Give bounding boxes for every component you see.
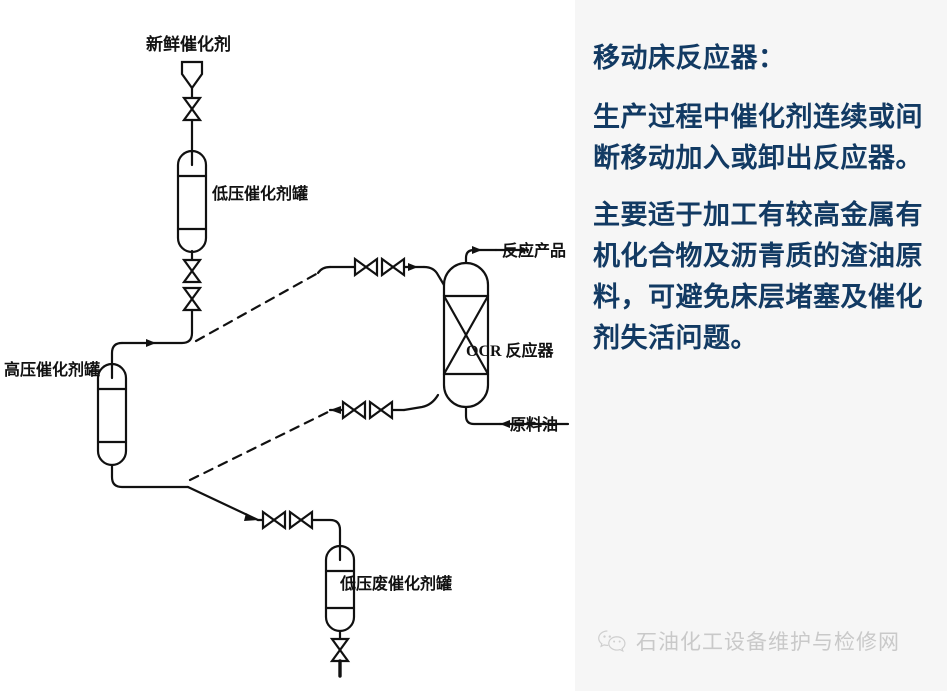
valve-lp-tank-outlet-lower — [184, 288, 200, 310]
valve-fresh-catalyst — [184, 98, 200, 120]
pipe-lp-to-hp-tank — [122, 310, 192, 343]
pfd-canvas: 新鲜催化剂 低压催化剂罐 高压催化剂罐 低压废催化剂罐 OCR 反应器 反应产品… — [0, 0, 575, 691]
label-low-pressure-catalyst-tank: 低压催化剂罐 — [211, 184, 308, 203]
valve-lp-tank-outlet-upper — [184, 260, 200, 282]
flow-arrow-to-spent-tank — [244, 513, 258, 521]
description-panel: 移动床反应器： 生产过程中催化剂连续或间断移动加入或卸出反应器。 主要适于加工有… — [575, 0, 947, 691]
label-fresh-catalyst: 新鲜催化剂 — [146, 34, 231, 54]
valve-spent-line-1 — [263, 512, 285, 528]
pipe-to-spent-tank — [312, 520, 340, 546]
label-ocr-reactor: OCR 反应器 — [466, 341, 555, 360]
dashed-line-hp-to-lower-transfer — [190, 412, 328, 480]
valve-spent-line-2 — [290, 512, 312, 528]
screenshot-root: 新鲜催化剂 低压催化剂罐 高压催化剂罐 低压废催化剂罐 OCR 反应器 反应产品… — [0, 0, 947, 691]
flow-arrow-upper-transfer — [408, 263, 418, 271]
panel-heading: 移动床反应器： — [593, 38, 927, 79]
label-reaction-product: 反应产品 — [502, 241, 566, 260]
pipe-lower-transfer-right — [404, 395, 438, 410]
flow-arrow-reactor-top — [472, 246, 482, 254]
paragraph-application: 主要适于加工有较高金属有机化合物及沥青质的渣油原料，可避免床层堵塞及催化剂失活问… — [593, 195, 927, 359]
flow-arrow-lp-to-hp — [146, 339, 156, 347]
label-feed-oil: 原料油 — [510, 415, 558, 434]
valve-lower-transfer-1 — [343, 402, 365, 418]
flow-arrow-feed-oil — [500, 420, 510, 428]
footer-site-name: 石油化工设备维护与检修网 — [636, 626, 900, 656]
paragraph-definition: 生产过程中催化剂连续或间断移动加入或卸出反应器。 — [593, 97, 927, 179]
valve-upper-transfer-2 — [382, 259, 404, 275]
process-flow-diagram-panel: 新鲜催化剂 低压催化剂罐 高压催化剂罐 低压废催化剂罐 OCR 反应器 反应产品… — [0, 0, 575, 691]
pipe-reactor-top — [466, 250, 496, 263]
valve-lower-transfer-2 — [370, 402, 392, 418]
flow-arrow-lower-transfer — [330, 406, 341, 414]
label-high-pressure-catalyst-tank: 高压催化剂罐 — [4, 360, 100, 379]
vessel-low-pressure-catalyst-tank — [178, 151, 206, 252]
dashed-line-junction-to-upper-transfer — [196, 273, 318, 341]
valve-spent-tank-outlet — [332, 639, 348, 661]
wechat-icon — [597, 629, 627, 653]
vessel-ocr-reactor — [444, 263, 488, 407]
footer-branding: 石油化工设备维护与检修网 — [575, 621, 947, 661]
vessel-high-pressure-catalyst-tank — [98, 364, 126, 465]
pipe-hp-tank-bottom — [112, 465, 188, 487]
valve-upper-transfer-1 — [355, 259, 377, 275]
fresh-catalyst-hopper — [182, 62, 202, 98]
pipe-feed-to-reactor — [466, 407, 500, 424]
label-low-pressure-spent-catalyst-tank: 低压废催化剂罐 — [339, 574, 452, 593]
